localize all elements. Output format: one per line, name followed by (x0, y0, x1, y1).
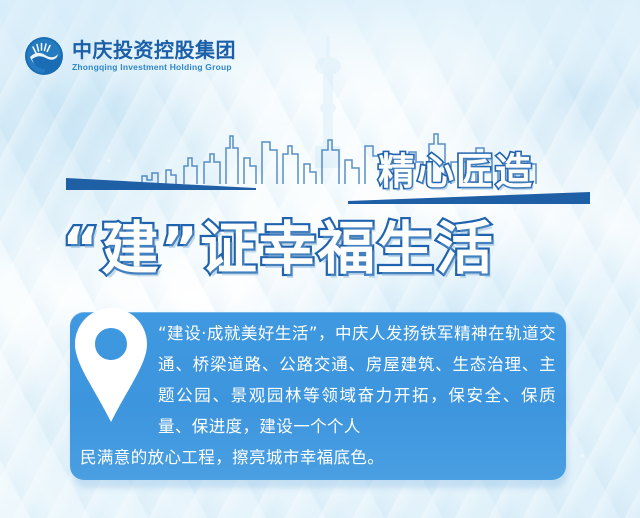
headline-main: “建”证幸福生活 (62, 203, 495, 285)
brand-name-en: Zhongqing Investment Holding Group (72, 63, 236, 72)
body-paragraph: “建设·成就美好生活”，中庆人发扬铁军精神在轨道交通、桥梁道路、公路交通、房屋建… (158, 318, 556, 442)
body-paragraph-tail: 民满意的放心工程，擦亮城市幸福底色。 (80, 442, 556, 473)
location-pin-icon (72, 302, 150, 430)
brand-name-cn: 中庆投资控股集团 (72, 40, 236, 60)
sunrise-circle-logo-icon (24, 36, 64, 76)
left-tapered-rule (66, 178, 256, 190)
brand-logo[interactable]: 中庆投资控股集团 Zhongqing Investment Holding Gr… (24, 36, 236, 76)
brand-logo-text: 中庆投资控股集团 Zhongqing Investment Holding Gr… (72, 40, 236, 72)
headline-kicker: 精心匠造 (378, 141, 534, 195)
poster-canvas: 中庆投资控股集团 Zhongqing Investment Holding Gr… (0, 0, 640, 518)
